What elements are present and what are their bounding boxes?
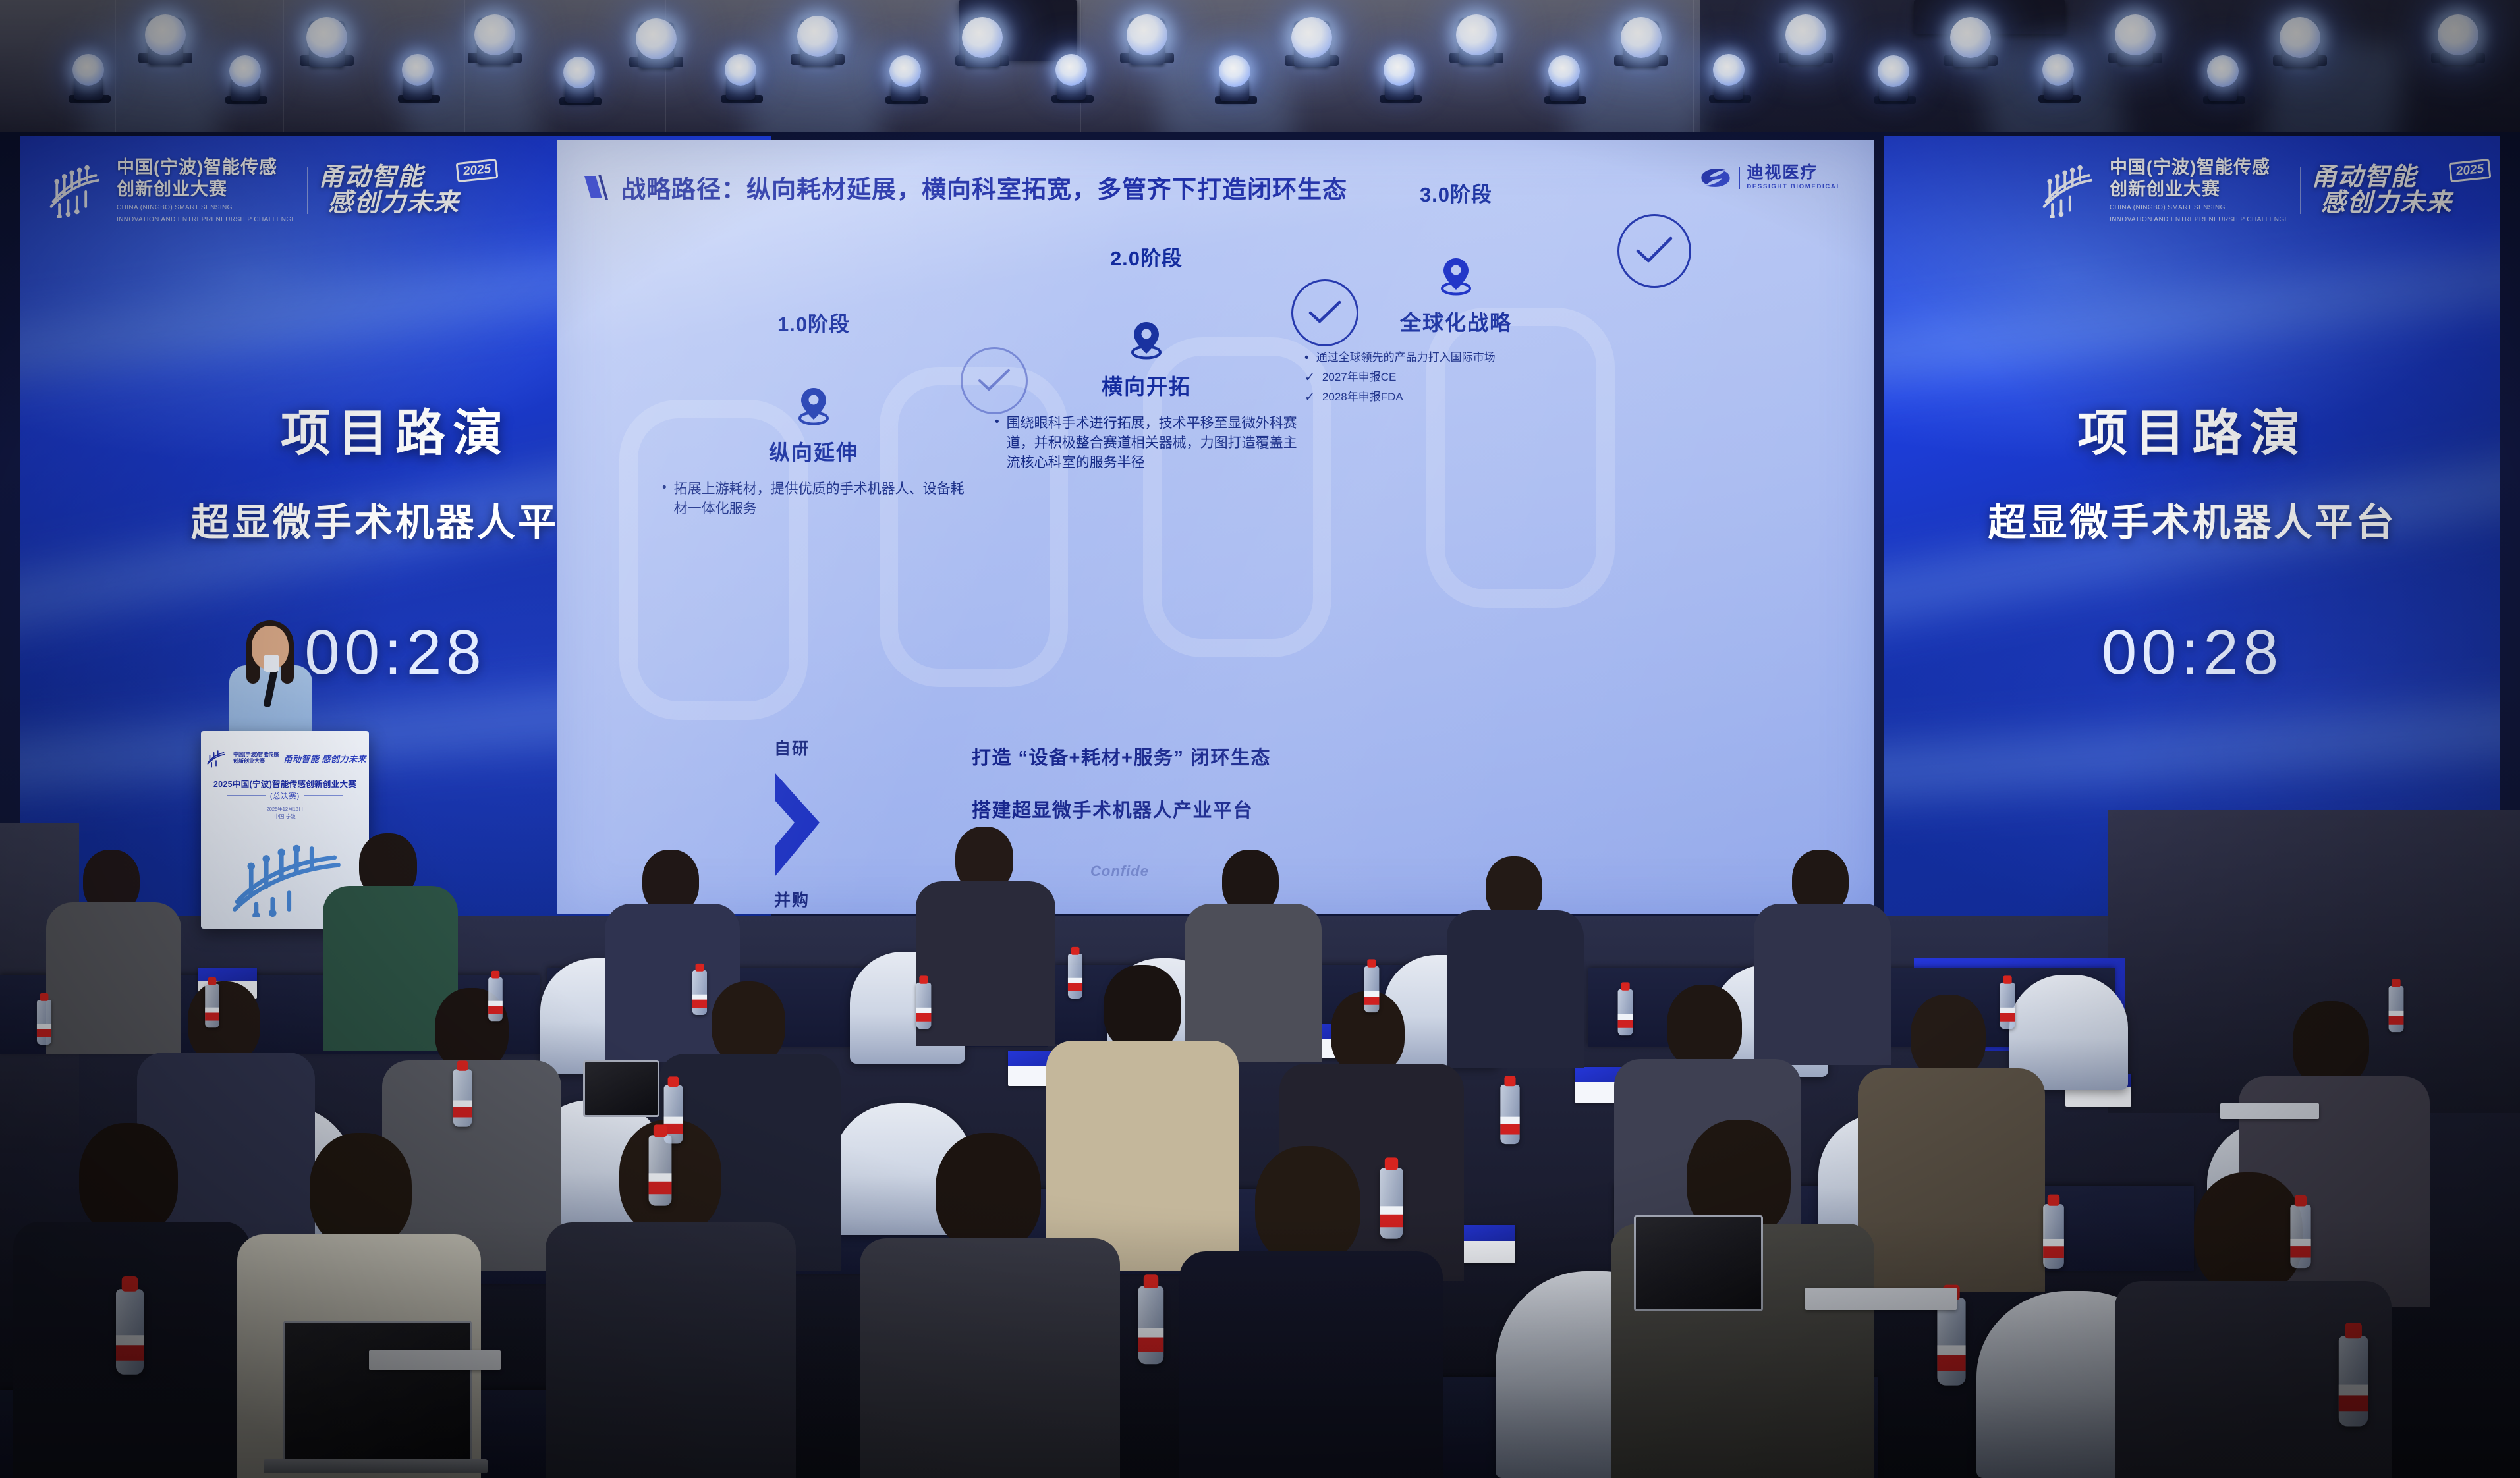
- chevron-bottom-label: 并购: [774, 887, 810, 911]
- water-bottle: [692, 970, 707, 1015]
- water-bottle: [453, 1069, 472, 1126]
- water-bottle: [1138, 1286, 1163, 1364]
- bullet-item: ✓ 2028年申报FDA: [1304, 389, 1614, 407]
- water-bottle: [1380, 1168, 1403, 1238]
- event-logo-en-line1: CHINA (NINGBO) SMART SENSING: [2110, 204, 2289, 212]
- company-name-cn: 迪视医疗: [1747, 165, 1841, 181]
- stage-bullets: • 围绕眼科手术进行拓展，技术平移至显微外科赛道，并积极整合赛道相关器械，力图打…: [988, 414, 1304, 472]
- water-bottle: [488, 977, 503, 1022]
- stage-column-2: 2.0阶段 横向开拓 • 围绕眼科手术进行拓展，技术平移至显微外科赛道，并积极整…: [988, 242, 1304, 474]
- podium-location: 中国·宁波: [201, 813, 369, 820]
- company-name-en: DESSIGHT BIOMEDICAL: [1747, 183, 1841, 190]
- chevron-right-icon: [771, 769, 831, 881]
- event-logo-cn-line2: 创新创业大赛: [2110, 178, 2289, 200]
- water-bottle: [205, 984, 219, 1028]
- bullet-marker: ✓: [1304, 369, 1315, 387]
- bullet-text: 围绕眼科手术进行拓展，技术平移至显微外科赛道，并积极整合赛道相关器械，力图打造覆…: [1007, 414, 1304, 472]
- event-logo: 中国(宁波)智能传感 创新创业大赛 CHINA (NINGBO) SMART S…: [43, 157, 460, 224]
- stage-column-3: 3.0阶段 全球化战略 • 通过全球领先的产品力打入国际市场 ✓ 2027年申报…: [1298, 178, 1614, 409]
- water-bottle: [1500, 1085, 1519, 1144]
- panel-title-right: 项目路演: [1884, 393, 2500, 465]
- paper-sheet: [369, 1350, 501, 1370]
- slide-title: 战略路径：纵向耗材延展，横向科室拓宽，多管齐下打造闭环生态: [621, 169, 1347, 205]
- podium-date: 2025年12月18日: [201, 806, 369, 813]
- event-logo-en-line2: INNOVATION AND ENTREPRENEURSHIP CHALLENG…: [2110, 215, 2289, 224]
- podium-slogan: 甬动智能 感创力未来: [283, 752, 366, 765]
- stage-label: 2.0阶段: [988, 242, 1304, 271]
- location-pin-icon: [1437, 257, 1475, 298]
- title-marker-icon: [584, 173, 611, 201]
- conference-photo: 中国(宁波)智能传感 创新创业大赛 CHINA (NINGBO) SMART S…: [0, 0, 2520, 1478]
- bullet-text: 2027年申报CE: [1322, 369, 1396, 387]
- led-panel-right: 中国(宁波)智能传感 创新创业大赛 CHINA (NINGBO) SMART S…: [1884, 136, 2500, 916]
- bullet-item: • 拓展上游耗材，提供优质的手术机器人、设备耗材一体化服务: [662, 479, 972, 519]
- water-bottle: [1937, 1298, 1965, 1385]
- bullet-text: 拓展上游耗材，提供优质的手术机器人、设备耗材一体化服务: [674, 479, 972, 519]
- bullet-text: 通过全球领先的产品力打入国际市场: [1316, 350, 1496, 368]
- event-year-badge: 2025: [2449, 159, 2492, 182]
- bullet-item: ✓ 2027年申报CE: [1304, 369, 1614, 387]
- circuit-chip-icon: [43, 163, 106, 218]
- bullet-marker: •: [995, 414, 999, 472]
- closing-statements: 打造 “设备+耗材+服务” 闭环生态 搭建超显微手术机器人产业平台: [972, 742, 1271, 848]
- stage-name: 横向开拓: [988, 370, 1304, 400]
- event-slogan-line2: 感创力未来: [2321, 190, 2453, 216]
- podium-subtitle: (总决赛): [201, 790, 369, 801]
- logo-divider: [307, 167, 308, 214]
- water-bottle: [37, 1000, 51, 1045]
- stage-name: 全球化战略: [1298, 306, 1614, 337]
- logo-divider: [1739, 167, 1740, 189]
- water-bottle: [1618, 989, 1633, 1035]
- closing-line-1: 打造 “设备+耗材+服务” 闭环生态: [972, 742, 1271, 770]
- event-logo-en-line1: CHINA (NINGBO) SMART SENSING: [117, 204, 296, 212]
- location-pin-icon: [1127, 321, 1165, 362]
- bullet-item: • 通过全球领先的产品力打入国际市场: [1304, 350, 1614, 368]
- dessight-logo-icon: [1699, 166, 1732, 190]
- event-logo-cn-line2: 创新创业大赛: [117, 178, 296, 200]
- bullet-item: • 围绕眼科手术进行拓展，技术平移至显微外科赛道，并积极整合赛道相关器械，力图打…: [995, 414, 1304, 472]
- water-bottle: [1068, 954, 1082, 999]
- event-logo-cn-line1: 中国(宁波)智能传感: [2110, 157, 2289, 178]
- event-slogan-line1: 甬动智能: [319, 165, 460, 190]
- countdown-timer-right: 00:28: [1884, 616, 2500, 689]
- bullet-marker: ✓: [1304, 389, 1315, 407]
- slide-header: 战略路径：纵向耗材延展，横向科室拓宽，多管齐下打造闭环生态: [584, 169, 1347, 205]
- circuit-chip-icon: [204, 748, 229, 768]
- podium-logo-cn-2: 创新创业大赛: [233, 758, 279, 765]
- circuit-chip-icon: [2036, 163, 2099, 218]
- confidential-watermark: Confide: [1090, 863, 1149, 880]
- event-slogan-line2: 感创力未来: [328, 190, 460, 216]
- water-bottle: [2389, 986, 2404, 1032]
- ceiling-speaker: [1914, 0, 2065, 34]
- stage-bullets: • 通过全球领先的产品力打入国际市场 ✓ 2027年申报CE ✓ 2028年申报…: [1298, 350, 1614, 407]
- water-bottle: [916, 983, 932, 1029]
- event-logo: 中国(宁波)智能传感 创新创业大赛 CHINA (NINGBO) SMART S…: [2036, 157, 2453, 224]
- location-pin-icon: [795, 387, 833, 427]
- water-bottle: [649, 1135, 672, 1205]
- stage-label: 1.0阶段: [656, 308, 972, 337]
- checkmark-badge-3: [1617, 214, 1691, 288]
- event-logo-cn-line1: 中国(宁波)智能传感: [117, 157, 296, 178]
- stage-bullets: • 拓展上游耗材，提供优质的手术机器人、设备耗材一体化服务: [656, 479, 972, 519]
- stage-column-1: 1.0阶段 纵向延伸 • 拓展上游耗材，提供优质的手术机器人、设备耗材一体化服务: [656, 308, 972, 521]
- logo-divider: [2300, 167, 2301, 214]
- stage-name: 纵向延伸: [656, 436, 972, 466]
- paper-sheet: [1805, 1288, 1957, 1310]
- company-logo: 迪视医疗 DESSIGHT BIOMEDICAL: [1699, 165, 1841, 190]
- water-bottle: [116, 1289, 144, 1375]
- closing-line-2: 搭建超显微手术机器人产业平台: [972, 795, 1271, 823]
- presentation-slide: 战略路径：纵向耗材延展，横向科室拓宽，多管齐下打造闭环生态 迪视医疗 DESSI…: [557, 140, 1874, 914]
- stage-label: 3.0阶段: [1298, 178, 1614, 207]
- water-bottle: [2000, 983, 2015, 1029]
- event-slogan-line1: 甬动智能: [2312, 165, 2453, 190]
- water-bottle: [1364, 966, 1380, 1012]
- water-bottle: [2043, 1204, 2064, 1269]
- event-logo-en-line2: INNOVATION AND ENTREPRENEURSHIP CHALLENG…: [117, 215, 296, 224]
- chevron-top-label: 自研: [774, 736, 810, 759]
- podium-title: 2025中国(宁波)智能传感创新创业大赛: [201, 777, 369, 790]
- bullet-marker: •: [662, 479, 667, 519]
- water-bottle: [2290, 1205, 2310, 1268]
- check-icon: [1634, 235, 1675, 267]
- panel-subtitle-right: 超显微手术机器人平台: [1884, 491, 2500, 547]
- event-year-badge: 2025: [456, 159, 499, 182]
- podium-logo-cn-1: 中国(宁波)智能传感: [233, 752, 279, 758]
- water-bottle: [2339, 1336, 2368, 1427]
- bullet-marker: •: [1304, 350, 1309, 368]
- paper-sheet: [2220, 1103, 2319, 1119]
- bullet-text: 2028年申报FDA: [1322, 389, 1403, 407]
